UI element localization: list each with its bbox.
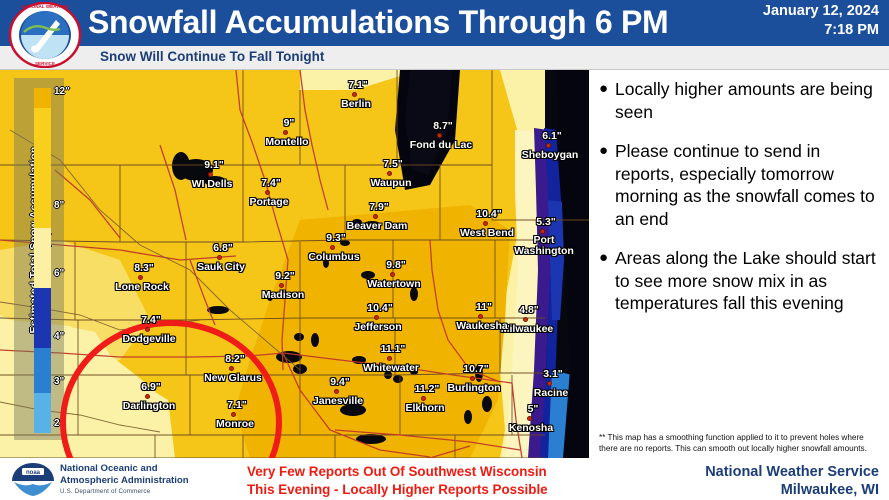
legend-colorbar [34,88,51,433]
observation-marker-icon [470,376,475,381]
observation-value: 9.3" [314,232,358,244]
observation-marker-icon [138,275,143,280]
observation-city-label: Monroe [185,418,285,430]
observation-marker-icon [374,315,379,320]
noaa-agency-name: National Oceanic and Atmospheric Adminis… [60,463,210,486]
map-footnote: ** This map has a smoothing function app… [599,433,883,454]
observation-city-label: Montello [237,136,337,148]
observation-city-label: Port Washington [504,235,584,257]
header-time: 7:18 PM [709,22,879,38]
observation-value: 10.4" [358,302,402,314]
observation-marker-icon [334,389,339,394]
legend-tick-3: 3" [54,376,64,387]
observation-city-label: Whitewater [341,362,441,374]
observation-marker-icon [352,92,357,97]
observation-city-label: Darlington [99,400,199,412]
observation-city-label: WI Dells [162,178,262,190]
noaa-department: U.S. Department of Commerce [60,488,150,495]
observation-value: 7.9" [357,201,401,213]
observation-city-label: Kenosha [481,422,581,434]
legend-tick-12: 12" [54,86,70,97]
observation-marker-icon [208,172,213,177]
observation-marker-icon [279,283,284,288]
observation-value: 9.4" [318,376,362,388]
observation-marker-icon [373,214,378,219]
observation-marker-icon [145,394,150,399]
observation-city-label: New Glarus [183,372,283,384]
observation-marker-icon [390,272,395,277]
observation-value: 3.1" [531,368,575,380]
observation-city-label: Waupun [341,177,441,189]
observation-value: 7.5" [371,158,415,170]
footer-office: National Weather Service Milwaukee, WI [629,463,879,499]
observation-city-label: Madison [233,289,333,301]
header-date: January 12, 2024 [709,3,879,19]
observation-value: 5" [511,403,555,415]
observation-value: 7.1" [336,79,380,91]
observation-marker-icon [330,245,335,250]
observation-value: 9" [267,117,311,129]
observation-value: 7.4" [249,177,293,189]
observation-value: 10.4" [467,208,511,220]
observation-marker-icon [283,130,288,135]
observation-value: 9.1" [192,159,236,171]
observation-value: 6.1" [530,130,574,142]
discussion-panel: ● Locally higher amounts are being seen … [589,70,889,458]
observation-value: 6.8" [201,242,245,254]
observation-value: 4.8" [507,304,551,316]
observation-city-label: Fond du Lac [391,139,491,151]
bullet-marker-icon: ● [599,78,615,123]
svg-text:SERVICE: SERVICE [35,61,55,66]
observation-marker-icon [265,190,270,195]
observation-city-label: Watertown [344,278,444,290]
snowfall-map[interactable]: Estimated Total Snow Accumulation (in) 1… [0,70,589,458]
bullet-text-1: Locally higher amounts are being seen [615,78,881,123]
observation-marker-icon [231,412,236,417]
observation-city-label: Portage [219,196,319,208]
observation-marker-icon [387,171,392,176]
svg-text:noaa: noaa [26,470,41,476]
page-title: Snowfall Accumulations Through 6 PM [88,0,728,46]
observation-value: 11.1" [371,343,415,355]
observation-marker-icon [547,381,552,386]
observation-city-label: Sheboygan [500,149,589,161]
snowfall-graphic: Snowfall Accumulations Through 6 PM Janu… [0,0,889,500]
legend-tick-4: 4" [54,331,64,342]
observation-city-label: Beaver Dam [327,220,427,232]
footer-bar: noaa National Oceanic and Atmospheric Ad… [0,458,889,500]
subtitle: Snow Will Continue To Fall Tonight [100,49,324,64]
noaa-logo: noaa [10,461,56,499]
footer-alert-message: Very Few Reports Out Of Southwest Wiscon… [247,463,617,498]
legend-tick-8: 8" [54,200,64,211]
legend-tick-2: 2" [54,418,64,429]
observation-marker-icon [387,356,392,361]
observation-value: 11" [462,301,506,313]
observation-value: 8.3" [122,262,166,274]
observation-marker-icon [421,396,426,401]
observation-marker-icon [229,366,234,371]
observation-city-label: Sauk City [171,261,271,273]
observation-value: 7.1" [215,399,259,411]
header-bar: Snowfall Accumulations Through 6 PM Janu… [0,0,889,46]
observation-value: 9.8" [374,259,418,271]
observation-marker-icon [217,255,222,260]
bullet-item: ● Please continue to send in reports, es… [599,140,881,230]
observation-value: 8.7" [421,120,465,132]
observation-value: 10.7" [454,363,498,375]
legend-tick-6: 6" [54,268,64,279]
observation-city-label: Lone Rock [92,281,192,293]
legend-panel: Estimated Total Snow Accumulation (in) 1… [14,78,64,440]
observation-marker-icon [437,133,442,138]
observation-value: 8.2" [213,353,257,365]
observation-value: 11.2" [405,383,449,395]
observation-city-label: Waukesha [432,320,532,332]
footer-alert-line-2: This Evening - Locally Higher Reports Po… [247,481,617,499]
observation-value: 9.2" [263,270,307,282]
bullet-text-3: Areas along the Lake should start to see… [615,247,881,315]
footer-office-line-2: Milwaukee, WI [629,481,879,499]
observation-city-label: Columbus [284,251,384,263]
bullet-item: ● Locally higher amounts are being seen [599,78,881,123]
subheader-bar: Snow Will Continue To Fall Tonight [0,46,889,70]
observation-value: 6.9" [129,381,173,393]
footer-office-line-1: National Weather Service [629,463,879,481]
observation-city-label: Dodgeville [99,333,199,345]
observation-city-label: Janesville [288,395,388,407]
observation-marker-icon [478,314,483,319]
bullet-item: ● Areas along the Lake should start to s… [599,247,881,315]
observation-value: 5.3" [524,216,568,228]
observation-city-label: Berlin [306,98,406,110]
national-weather-service-logo: NATIONAL WEATHER SERVICE [8,2,82,68]
observation-marker-icon [527,416,532,421]
footer-alert-line-1: Very Few Reports Out Of Southwest Wiscon… [247,463,617,481]
observation-value: 7.4" [129,314,173,326]
observation-marker-icon [483,221,488,226]
bullet-marker-icon: ● [599,247,615,315]
observation-city-label: Elkhorn [375,402,475,414]
bullet-text-2: Please continue to send in reports, espe… [615,140,881,230]
observation-marker-icon [546,143,551,148]
observation-marker-icon [145,327,150,332]
observation-city-label: Jefferson [328,321,428,333]
svg-text:NATIONAL WEATHER: NATIONAL WEATHER [21,4,69,9]
bullet-marker-icon: ● [599,140,615,230]
